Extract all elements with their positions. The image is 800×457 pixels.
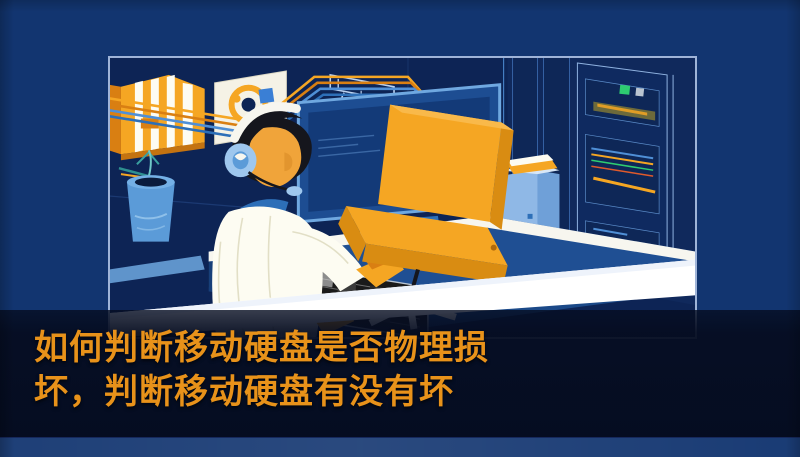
illustration-frame: [108, 56, 697, 339]
page-title-line-1: 如何判断移动硬盘是否物理损: [34, 326, 734, 370]
page-title: 如何判断移动硬盘是否物理损 坏，判断移动硬盘有没有坏: [34, 326, 734, 414]
bottom-bar: [0, 437, 800, 457]
page-title-line-2: 坏，判断移动硬盘有没有坏: [34, 370, 734, 414]
workspace-illustration: [109, 57, 696, 338]
banner-stage: 如何判断移动硬盘是否物理损 坏，判断移动硬盘有没有坏: [0, 0, 800, 457]
bottom-bar-sheen: [0, 438, 800, 457]
